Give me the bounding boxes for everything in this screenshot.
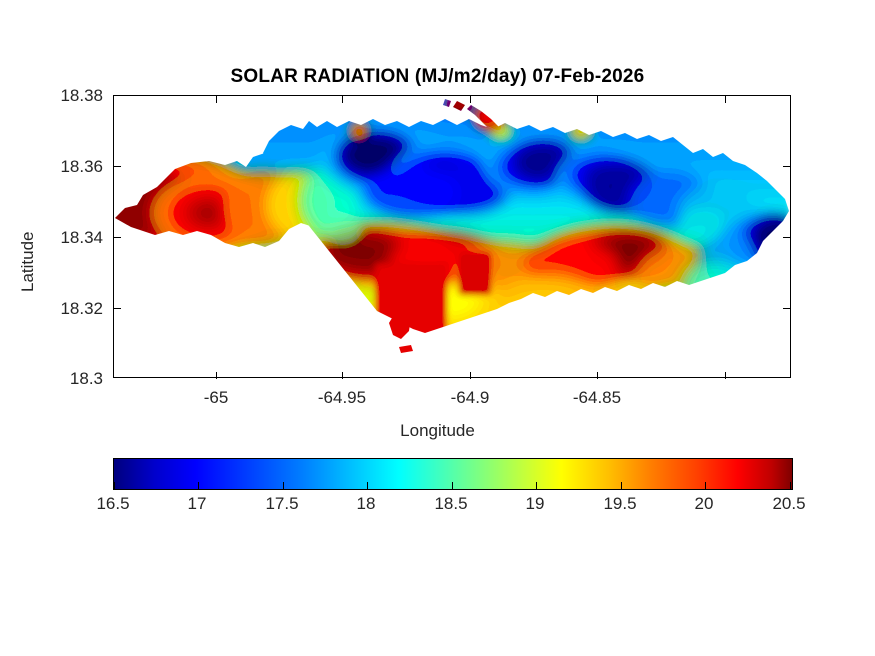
colorbar-tick-8 <box>705 482 706 489</box>
ytick-label-18.36: 18.36 <box>23 157 103 177</box>
colorbar-gradient <box>114 459 792 489</box>
colorbar-label-19.5: 19.5 <box>575 494 665 514</box>
colorbar-tick-3 <box>283 482 284 489</box>
colorbar[interactable] <box>113 458 793 490</box>
colorbar-tick-7 <box>621 482 622 489</box>
colorbar-label-18: 18 <box>321 494 411 514</box>
colorbar-tick-5 <box>452 482 453 489</box>
matlab-figure: SOLAR RADIATION (MJ/m2/day) 07-Feb-2026 … <box>0 0 875 656</box>
ytick-label-18.3: 18.3 <box>23 369 103 389</box>
colorbar-tick-1 <box>114 482 115 489</box>
colorbar-label-16.5: 16.5 <box>68 494 158 514</box>
ytick-label-18.32: 18.32 <box>23 299 103 319</box>
xtick-label--64.85: -64.85 <box>547 388 647 408</box>
colorbar-tick-2 <box>198 482 199 489</box>
radiation-field <box>113 95 791 378</box>
colorbar-tick-6 <box>536 482 537 489</box>
x-axis-label: Longitude <box>0 421 875 441</box>
colorbar-tick-9 <box>790 482 791 489</box>
colorbar-label-17: 17 <box>152 494 242 514</box>
colorbar-label-17.5: 17.5 <box>237 494 327 514</box>
colorbar-label-20.5: 20.5 <box>744 494 834 514</box>
colorbar-label-19: 19 <box>490 494 580 514</box>
colorbar-label-18.5: 18.5 <box>406 494 496 514</box>
solar-radiation-contour-map <box>113 95 791 378</box>
y-axis-label: Latitude <box>18 232 38 293</box>
page-title: SOLAR RADIATION (MJ/m2/day) 07-Feb-2026 <box>0 66 875 88</box>
xtick-label--64.95: -64.95 <box>292 388 392 408</box>
xtick-label--64.9: -64.9 <box>420 388 520 408</box>
colorbar-label-20: 20 <box>659 494 749 514</box>
ytick-label-18.38: 18.38 <box>23 86 103 106</box>
colorbar-tick-4 <box>367 482 368 489</box>
xtick-label--65: -65 <box>166 388 266 408</box>
